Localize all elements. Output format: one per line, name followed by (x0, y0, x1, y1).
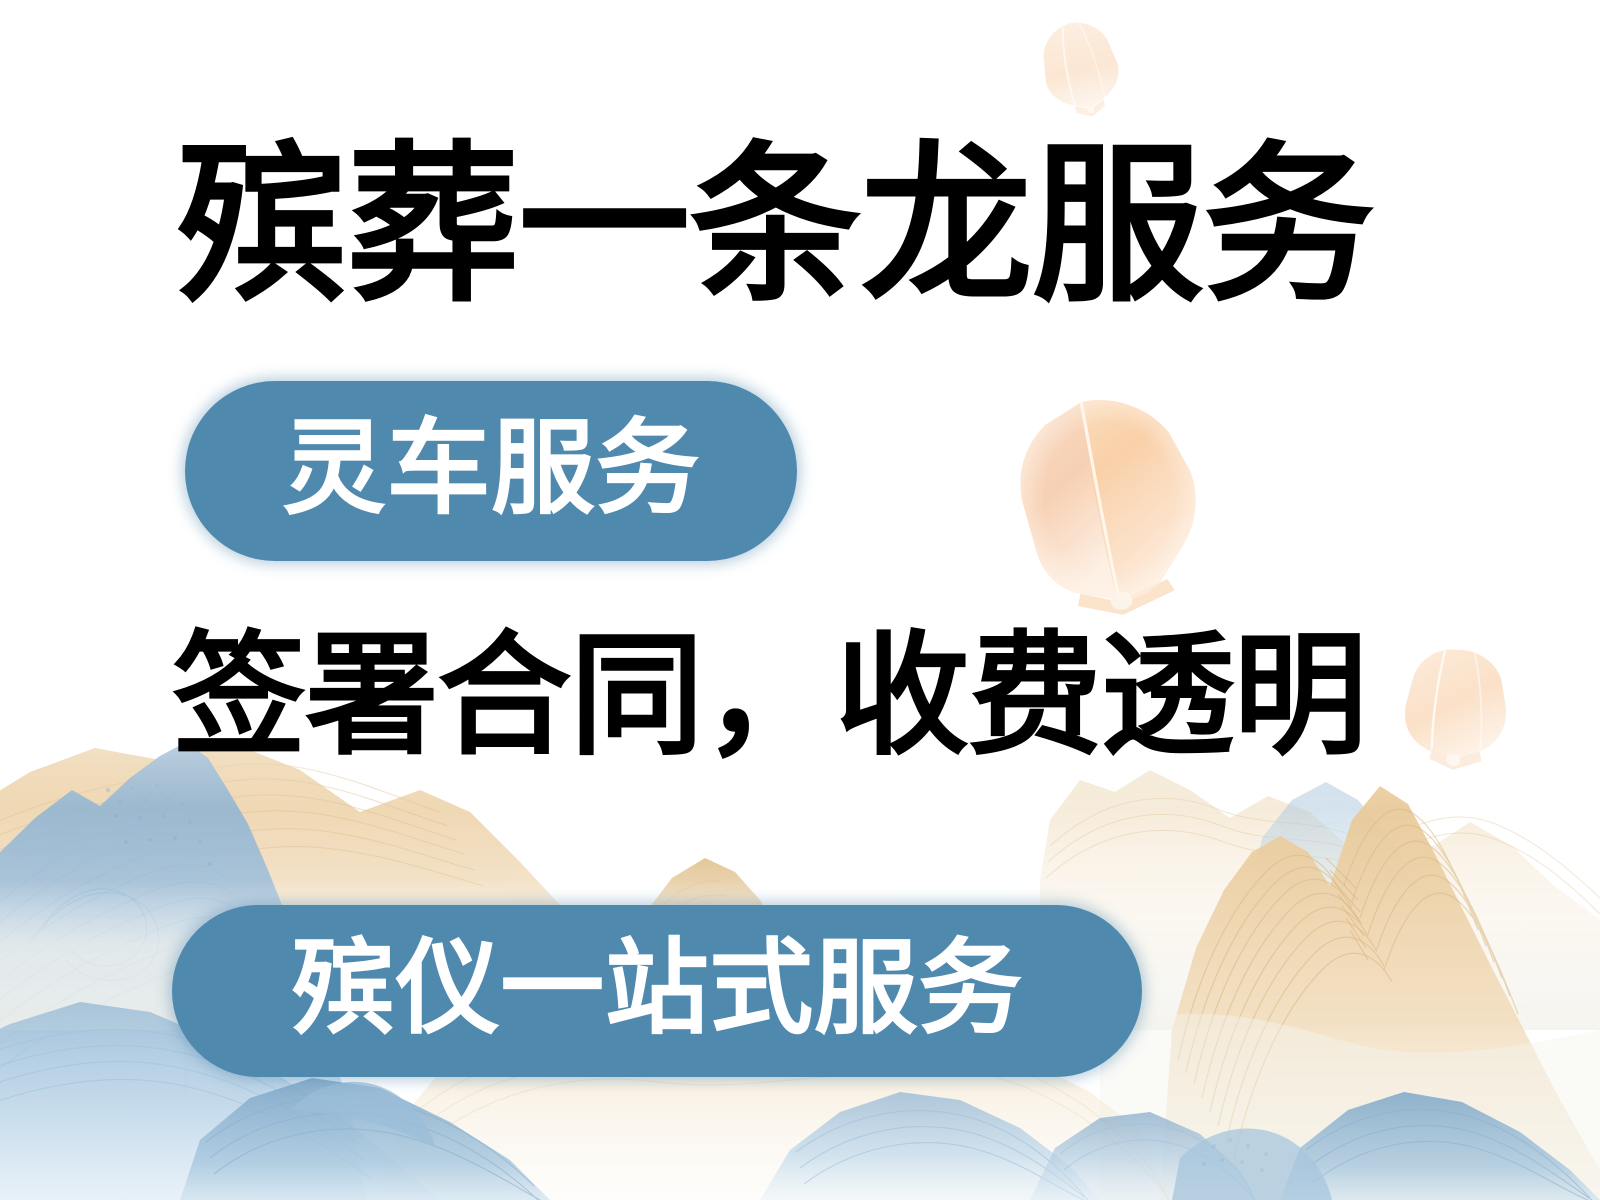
sky-lantern-small-top (1024, 8, 1138, 131)
gold-hero-peaks-right (1160, 786, 1600, 1200)
sky-lantern-small-right (1395, 641, 1518, 775)
sky-lantern-large-mid (985, 378, 1228, 635)
blue-ridges-foreground-right (760, 1092, 1600, 1200)
blue-speckled-knoll (1172, 1128, 1332, 1200)
blue-ridge-right-far (1250, 782, 1430, 918)
service-pill-hearse-label: 灵车服务 (282, 417, 700, 521)
headline-contract-transparent-pricing: 签署合同，收费透明 (172, 630, 1366, 764)
page-title: 殡葬一条龙服务 (176, 142, 1374, 314)
poster-canvas: 殡葬一条龙服务 灵车服务 签署合同，收费透明 殡仪一站式服务 (0, 0, 1600, 1200)
service-pill-onestop-label: 殡仪一站式服务 (291, 937, 1023, 1041)
service-pill-hearse[interactable]: 灵车服务 (185, 381, 797, 561)
service-pill-onestop[interactable]: 殡仪一站式服务 (172, 905, 1142, 1077)
